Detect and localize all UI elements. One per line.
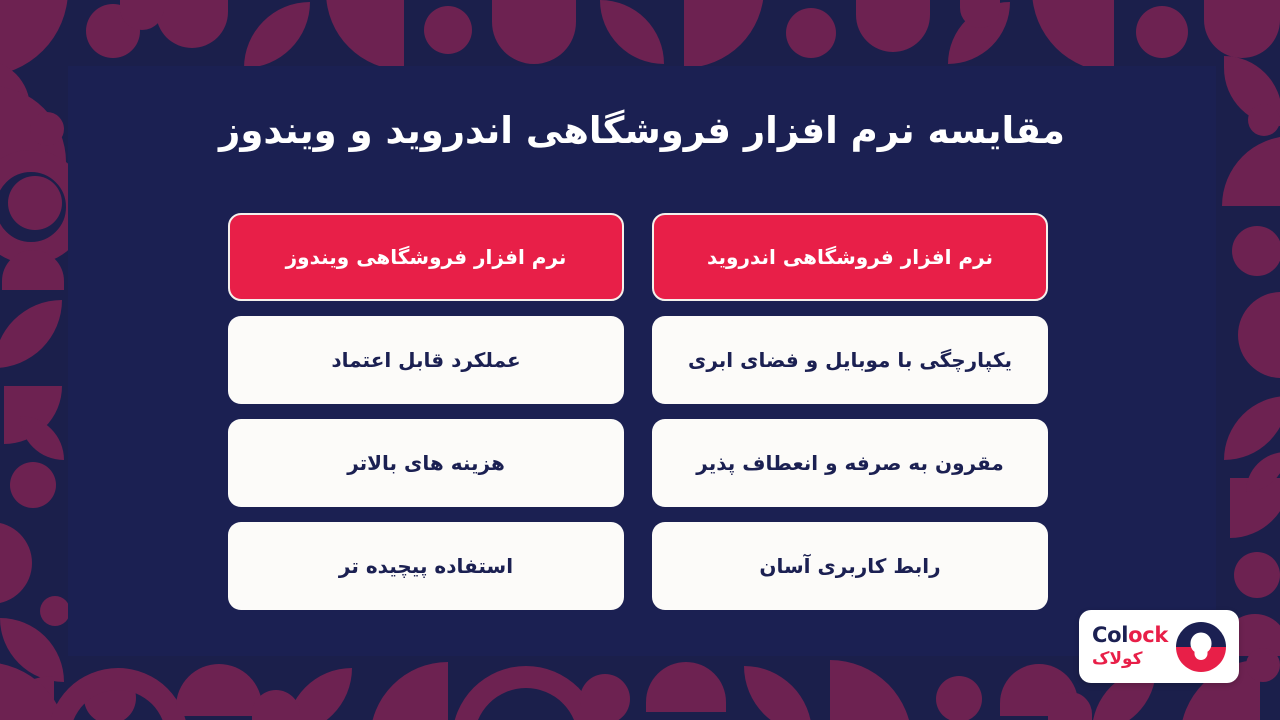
comparison-grid: نرم افزار فروشگاهی اندروید نرم افزار فرو… (228, 213, 1048, 610)
brand-wordmark-part1: Col (1092, 623, 1128, 647)
feature-card-android-3[interactable]: رابط کاربری آسان (652, 522, 1048, 610)
feature-card-windows-2[interactable]: هزینه های بالاتر (228, 419, 624, 507)
brand-circle-icon (1176, 622, 1226, 672)
brand-wordmark: Colock (1092, 625, 1168, 646)
brand-logo-badge[interactable]: Colock کولاک (1079, 610, 1239, 683)
brand-wordmark-part2: ock (1128, 623, 1168, 647)
column-header-android[interactable]: نرم افزار فروشگاهی اندروید (652, 213, 1048, 301)
feature-card-android-1[interactable]: یکپارچگی با موبایل و فضای ابری (652, 316, 1048, 404)
page-title: مقایسه نرم افزار فروشگاهی اندروید و ویند… (68, 104, 1216, 158)
brand-logo-text: Colock کولاک (1092, 625, 1168, 668)
brand-wordmark-farsi: کولاک (1092, 651, 1143, 668)
feature-card-windows-1[interactable]: عملکرد قابل اعتماد (228, 316, 624, 404)
feature-card-android-2[interactable]: مقرون به صرفه و انعطاف پذیر (652, 419, 1048, 507)
slide-canvas: مقایسه نرم افزار فروشگاهی اندروید و ویند… (0, 0, 1280, 720)
column-header-windows[interactable]: نرم افزار فروشگاهی ویندوز (228, 213, 624, 301)
feature-card-windows-3[interactable]: استفاده پیچیده تر (228, 522, 624, 610)
